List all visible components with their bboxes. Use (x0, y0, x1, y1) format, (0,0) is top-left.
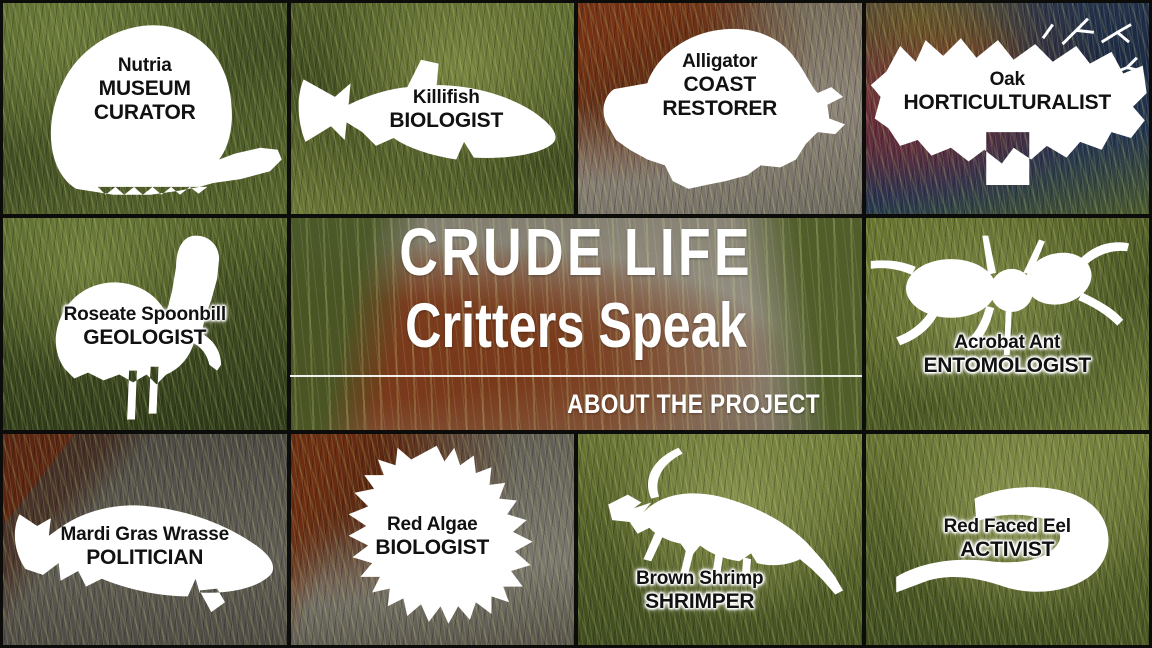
critter-name: Roseate Spoonbill (3, 304, 287, 326)
critter-tile-killifish[interactable]: Killifish BIOLOGIST (291, 3, 575, 214)
tile-caption-oak: Oak HORTICULTURALIST (866, 69, 1150, 115)
critter-name: Nutria (3, 55, 287, 77)
critter-role-line-a: BIOLOGIST (291, 536, 575, 560)
critter-role-line-a: ACTIVIST (866, 538, 1150, 562)
critter-name: Killifish (319, 87, 575, 109)
critter-tile-alligator[interactable]: Alligator COAST RESTORER (578, 3, 862, 214)
center-title-tile (291, 218, 862, 429)
tile-photo-marsh-grass (866, 218, 1150, 429)
critter-role-line-b: RESTORER (578, 97, 862, 121)
tile-caption-red-faced-eel: Red Faced Eel ACTIVIST (866, 516, 1150, 562)
tile-caption-acrobat-ant: Acrobat Ant ENTOMOLOGIST (866, 332, 1150, 378)
tile-caption-nutria: Nutria MUSEUM CURATOR (3, 55, 287, 126)
critter-tile-oak[interactable]: Oak HORTICULTURALIST (866, 3, 1150, 214)
critter-name: Oak (866, 69, 1150, 91)
tile-caption-brown-shrimp: Brown Shrimp SHRIMPER (578, 568, 822, 614)
crude-life-landing-page: Nutria MUSEUM CURATOR Killifish BIOLOGIS… (0, 0, 1152, 648)
critter-role-line-a: ENTOMOLOGIST (866, 354, 1150, 378)
critter-tile-mardi-gras-wrasse[interactable]: Mardi Gras Wrasse POLITICIAN (3, 434, 287, 645)
tile-caption-roseate-spoonbill: Roseate Spoonbill GEOLOGIST (3, 304, 287, 350)
critter-name: Red Algae (291, 514, 575, 536)
critter-role-line-a: HORTICULTURALIST (866, 91, 1150, 115)
critter-tile-red-faced-eel[interactable]: Red Faced Eel ACTIVIST (866, 434, 1150, 645)
critter-role-line-a: MUSEUM (3, 77, 287, 101)
critter-tile-grid: Nutria MUSEUM CURATOR Killifish BIOLOGIS… (0, 0, 1152, 648)
critter-role-line-a: BIOLOGIST (319, 109, 575, 133)
critter-tile-roseate-spoonbill[interactable]: Roseate Spoonbill GEOLOGIST (3, 218, 287, 429)
critter-tile-nutria[interactable]: Nutria MUSEUM CURATOR (3, 3, 287, 214)
tile-caption-alligator: Alligator COAST RESTORER (578, 51, 862, 122)
critter-role-line-a: COAST (578, 73, 862, 97)
critter-role-line-a: SHRIMPER (578, 590, 822, 614)
critter-tile-acrobat-ant[interactable]: Acrobat Ant ENTOMOLOGIST (866, 218, 1150, 429)
critter-name: Mardi Gras Wrasse (3, 524, 287, 546)
critter-name: Red Faced Eel (866, 516, 1150, 538)
critter-role-line-a: POLITICIAN (3, 546, 287, 570)
tile-caption-mardi-gras-wrasse: Mardi Gras Wrasse POLITICIAN (3, 524, 287, 570)
tile-caption-killifish: Killifish BIOLOGIST (319, 87, 575, 133)
critter-tile-brown-shrimp[interactable]: Brown Shrimp SHRIMPER (578, 434, 862, 645)
tile-caption-red-algae: Red Algae BIOLOGIST (291, 514, 575, 560)
critter-tile-red-algae[interactable]: Red Algae BIOLOGIST (291, 434, 575, 645)
critter-name: Alligator (578, 51, 862, 73)
critter-name: Brown Shrimp (578, 568, 822, 590)
critter-role-line-b: CURATOR (3, 101, 287, 125)
tile-photo-oil-slick-center (291, 218, 862, 429)
critter-name: Acrobat Ant (866, 332, 1150, 354)
critter-role-line-a: GEOLOGIST (3, 326, 287, 350)
